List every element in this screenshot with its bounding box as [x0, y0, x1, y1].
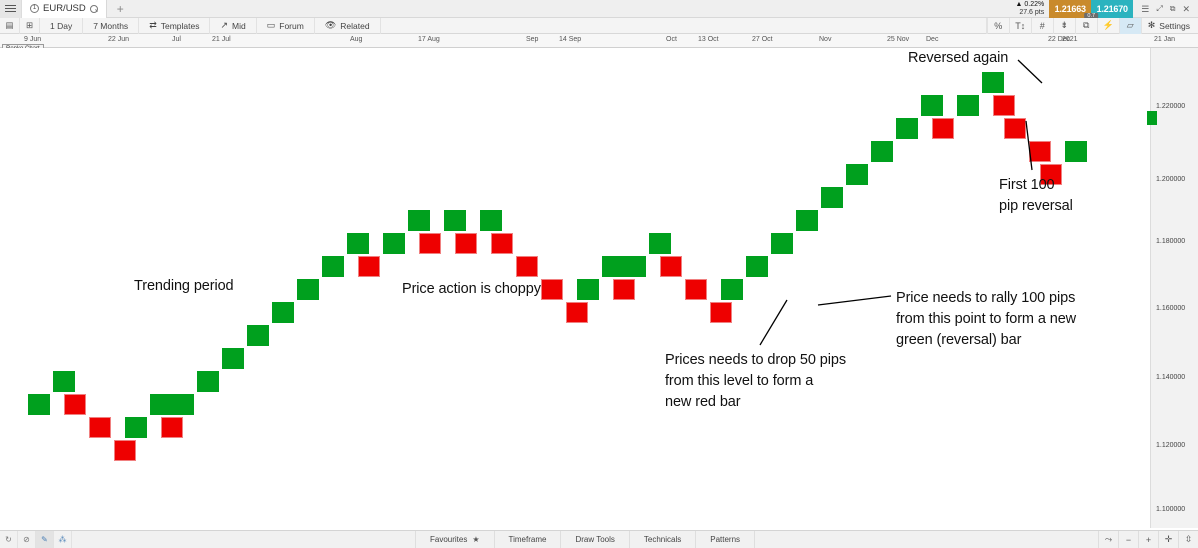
- y-axis-tick-label: 1.180000: [1156, 238, 1185, 245]
- x-axis-tick-label: Oct: [666, 36, 677, 43]
- patterns-label: Patterns: [710, 535, 740, 544]
- x-axis-tick-label: Jul: [172, 36, 181, 43]
- annotation-trending-period: Trending period: [134, 276, 234, 297]
- renko-brick-down: [161, 417, 183, 438]
- grid-lines-icon[interactable]: #: [1031, 18, 1053, 34]
- x-axis[interactable]: 9 Jun22 JunJul21 JulAug17 AugSep14 SepOc…: [0, 34, 1198, 48]
- toolbar-item-timeframe[interactable]: 1 Day: [40, 18, 83, 34]
- renko-brick-up: [846, 164, 868, 185]
- toolbar-item-range[interactable]: 7 Months: [83, 18, 139, 34]
- y-axis-tick-label: 1.120000: [1156, 442, 1185, 449]
- expand-icon[interactable]: ✛: [1158, 531, 1178, 548]
- renko-brick-down: [685, 279, 707, 300]
- tab-eurusd[interactable]: 1 EUR/USD: [22, 0, 107, 18]
- star-icon[interactable]: ★: [472, 535, 479, 544]
- annotation-rally-100-pips: Price needs to rally 100 pips from this …: [896, 288, 1076, 351]
- renko-brick-up: [721, 279, 743, 300]
- indicator-icon[interactable]: ⇟: [1053, 18, 1075, 34]
- y-axis-tick-label: 1.100000: [1156, 506, 1185, 513]
- pencil-icon[interactable]: ✎: [36, 531, 54, 548]
- zoom-out-icon[interactable]: −: [1118, 531, 1138, 548]
- x-axis-tick-label: 27 Oct: [752, 36, 773, 43]
- shape-icon[interactable]: ▱: [1119, 18, 1141, 34]
- layout-grid-icon[interactable]: ⊞: [20, 18, 40, 34]
- current-price-marker: [1147, 111, 1157, 125]
- bottom-item-draw-tools[interactable]: Draw Tools: [560, 531, 628, 548]
- settings-label: Settings: [1159, 21, 1190, 31]
- renko-brick-up: [53, 371, 75, 392]
- renko-brick-down: [491, 233, 513, 254]
- toolbar-label-templates: Templates: [161, 21, 200, 31]
- speech-bubble-icon: ▭: [267, 20, 276, 31]
- copy-icon[interactable]: ⧉: [1075, 18, 1097, 34]
- renko-brick-down: [993, 95, 1015, 116]
- renko-brick-up: [272, 302, 294, 323]
- quote-change-percent: ▲ 0.22%: [1016, 1, 1045, 9]
- renko-brick-down: [566, 302, 588, 323]
- text-size-icon[interactable]: T↕: [1009, 18, 1031, 34]
- gear-icon: ✻: [1148, 20, 1156, 31]
- bottom-item-technicals[interactable]: Technicals: [629, 531, 695, 548]
- renko-brick-down: [932, 118, 954, 139]
- x-axis-tick-label: 21 Jan: [1154, 36, 1175, 43]
- quote-change-points: 27.6 pts: [1016, 9, 1045, 17]
- x-axis-tick-label: 9 Jun: [24, 36, 41, 43]
- bottom-item-patterns[interactable]: Patterns: [695, 531, 755, 548]
- arrow-icon: ↗: [220, 20, 228, 31]
- renko-brick-up: [982, 72, 1004, 93]
- renko-brick-down: [358, 256, 380, 277]
- x-axis-tick-label: 2021: [1062, 36, 1078, 43]
- renko-brick-up: [28, 394, 50, 415]
- no-entry-icon[interactable]: ⊘: [18, 531, 36, 548]
- renko-brick-down: [516, 256, 538, 277]
- toolbar-right-group: % T↕ # ⇟ ⧉ ⚡ ▱ ✻ Settings: [987, 18, 1198, 34]
- annotation-first-100-pip-reversal: First 100 pip reversal: [999, 175, 1073, 217]
- x-axis-tick-label: 21 Jul: [212, 36, 231, 43]
- renko-brick-up: [480, 210, 502, 231]
- x-axis-tick-label: Aug: [350, 36, 362, 43]
- sliders-icon: ⇄: [149, 20, 157, 31]
- renko-brick-up: [957, 95, 979, 116]
- draw-tools-label: Draw Tools: [575, 535, 614, 544]
- renko-brick-up: [746, 256, 768, 277]
- list-icon[interactable]: ☰: [1141, 4, 1149, 15]
- renko-brick-up: [649, 233, 671, 254]
- renko-brick-up: [1065, 141, 1087, 162]
- x-axis-tick-label: Dec: [926, 36, 938, 43]
- renko-brick-down: [419, 233, 441, 254]
- bottom-item-favourites[interactable]: Favourites ★: [415, 531, 494, 548]
- x-axis-tick-label: 14 Sep: [559, 36, 581, 43]
- annotation-reversed-again: Reversed again: [908, 48, 1008, 69]
- toolbar-item-mid[interactable]: ↗ Mid: [210, 18, 256, 34]
- toolbar-label-timeframe: 1 Day: [50, 21, 72, 31]
- y-axis-tick-label: 1.160000: [1156, 305, 1185, 312]
- y-axis-tick-label: 1.140000: [1156, 374, 1185, 381]
- renko-brick-down: [660, 256, 682, 277]
- renko-brick-down: [89, 417, 111, 438]
- hamburger-menu-icon[interactable]: [0, 0, 22, 18]
- toolbar-item-related[interactable]: 👁 Related: [315, 18, 381, 34]
- bottom-item-timeframe[interactable]: Timeframe: [494, 531, 561, 548]
- expand-icon[interactable]: ⤢: [1156, 4, 1162, 14]
- fit-icon[interactable]: ⇳: [1178, 531, 1198, 548]
- tab-bar: 1 EUR/USD + ▲ 0.22% 27.6 pts 1.21663 1.2…: [0, 0, 1198, 18]
- renko-brick-up: [125, 417, 147, 438]
- renko-brick-down: [1004, 118, 1026, 139]
- watchlist-icon[interactable]: ▤: [0, 18, 20, 34]
- toolbar-label-range: 7 Months: [93, 21, 128, 31]
- annotation-drop-50-pips: Prices needs to drop 50 pips from this l…: [665, 350, 846, 413]
- y-axis-tick-label: 1.220000: [1156, 103, 1185, 110]
- renko-brick-up: [408, 210, 430, 231]
- quote-area: ▲ 0.22% 27.6 pts 1.21663 1.21670 0.7 ☰ ⤢…: [1016, 0, 1198, 18]
- alert-icon[interactable]: ⚡: [1097, 18, 1119, 34]
- toolbar-item-templates[interactable]: ⇄ Templates: [139, 18, 210, 34]
- toolbar-item-forum[interactable]: ▭ Forum: [257, 18, 315, 34]
- bottom-right-group: ⤳ − + ✛ ⇳: [1098, 531, 1198, 548]
- renko-brick-up: [347, 233, 369, 254]
- renko-brick-up: [896, 118, 918, 139]
- magnet-icon[interactable]: ⁂: [54, 531, 72, 548]
- renko-brick-up: [444, 210, 466, 231]
- renko-brick-up: [921, 95, 943, 116]
- trading-chart-app: 1 EUR/USD + ▲ 0.22% 27.6 pts 1.21663 1.2…: [0, 0, 1198, 548]
- renko-brick-up: [602, 256, 624, 277]
- favourites-label: Favourites: [430, 535, 467, 544]
- bottom-toolbar: ↻ ⊘ ✎ ⁂ Favourites ★ Timeframe Draw Tool…: [0, 530, 1198, 548]
- renko-brick-down: [613, 279, 635, 300]
- search-icon[interactable]: [90, 5, 98, 13]
- renko-brick-up: [624, 256, 646, 277]
- toolbar-spacer: [381, 18, 987, 34]
- percent-icon[interactable]: %: [987, 18, 1009, 34]
- chart-toolbar: ▤ ⊞ 1 Day 7 Months ⇄ Templates ↗ Mid ▭ F…: [0, 18, 1198, 34]
- new-tab-button[interactable]: +: [107, 2, 134, 16]
- technicals-label: Technicals: [644, 535, 681, 544]
- renko-brick-down: [114, 440, 136, 461]
- renko-brick-up: [383, 233, 405, 254]
- x-axis-tick-label: Nov: [819, 36, 831, 43]
- renko-brick-up: [771, 233, 793, 254]
- renko-brick-up: [297, 279, 319, 300]
- renko-brick-up: [247, 325, 269, 346]
- x-axis-tick-label: 25 Nov: [887, 36, 909, 43]
- x-axis-tick-label: 22 Jun: [108, 36, 129, 43]
- close-icon[interactable]: ✕: [1182, 4, 1190, 15]
- annotation-price-action-choppy: Price action is choppy: [402, 279, 541, 300]
- renko-brick-up: [577, 279, 599, 300]
- x-axis-tick-label: 13 Oct: [698, 36, 719, 43]
- y-axis-tick-label: 1.200000: [1156, 176, 1185, 183]
- timeframe-label: Timeframe: [509, 535, 547, 544]
- toolbar-label-forum: Forum: [279, 21, 304, 31]
- renko-brick-down: [64, 394, 86, 415]
- share-icon[interactable]: ⤳: [1098, 531, 1118, 548]
- eye-icon: 👁: [325, 20, 336, 31]
- settings-button[interactable]: ✻ Settings: [1141, 18, 1198, 34]
- quote-change: ▲ 0.22% 27.6 pts: [1016, 0, 1050, 18]
- renko-brick-up: [322, 256, 344, 277]
- renko-brick-up: [150, 394, 172, 415]
- toolbar-label-related: Related: [340, 21, 369, 31]
- toolbar-label-mid: Mid: [232, 21, 246, 31]
- renko-brick-down: [710, 302, 732, 323]
- renko-brick-down: [541, 279, 563, 300]
- renko-brick-up: [197, 371, 219, 392]
- renko-brick-down: [455, 233, 477, 254]
- popout-icon[interactable]: ⧉: [1170, 4, 1176, 14]
- renko-brick-up: [796, 210, 818, 231]
- x-axis-tick-label: Sep: [526, 36, 538, 43]
- y-axis[interactable]: 1.2200001.2000001.1800001.1600001.140000…: [1150, 48, 1198, 528]
- tab-badge-icon: 1: [30, 4, 39, 13]
- renko-brick-up: [821, 187, 843, 208]
- renko-brick-down: [1029, 141, 1051, 162]
- refresh-icon[interactable]: ↻: [0, 531, 18, 548]
- tab-label: EUR/USD: [43, 3, 86, 14]
- renko-brick-up: [222, 348, 244, 369]
- window-controls: ☰ ⤢ ⧉ ✕: [1133, 0, 1198, 18]
- x-axis-tick-label: 17 Aug: [418, 36, 440, 43]
- renko-brick-up: [871, 141, 893, 162]
- zoom-in-icon[interactable]: +: [1138, 531, 1158, 548]
- renko-brick-up: [172, 394, 194, 415]
